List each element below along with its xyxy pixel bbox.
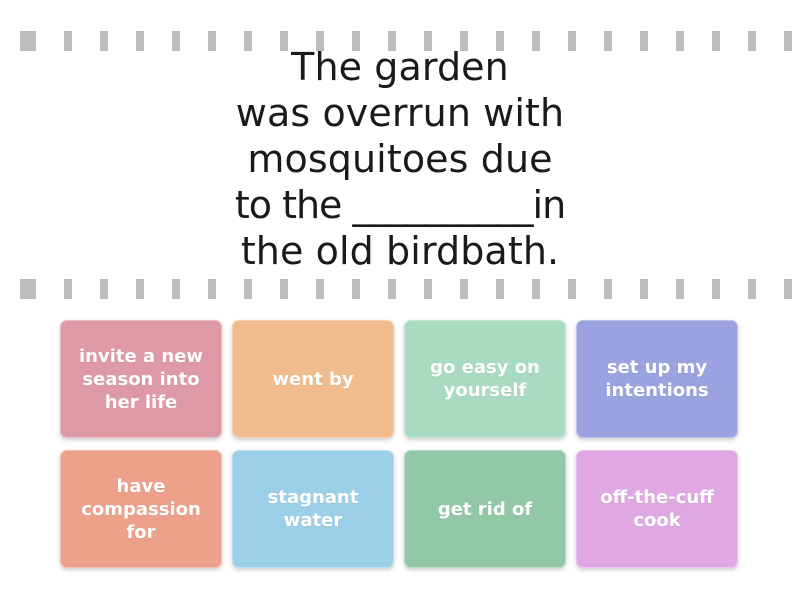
answer-tile-grid: invite a new season into her life went b… bbox=[60, 320, 738, 568]
question-line-3: mosquitoes due bbox=[247, 136, 552, 182]
answer-tile[interactable]: stagnant water bbox=[232, 450, 394, 568]
question-text: The garden was overrun with mosquitoes d… bbox=[40, 44, 760, 274]
question-panel: The garden was overrun with mosquitoes d… bbox=[0, 0, 800, 300]
dashed-divider-bottom bbox=[0, 279, 800, 299]
question-line-5: the old birdbath. bbox=[241, 228, 559, 274]
answer-tile-label: invite a new season into her life bbox=[68, 345, 214, 414]
answer-tile-label: go easy on yourself bbox=[412, 356, 558, 402]
answer-tile-label: get rid of bbox=[438, 498, 532, 521]
answer-tile-label: have compassion for bbox=[68, 475, 214, 544]
activity-stage: The garden was overrun with mosquitoes d… bbox=[0, 0, 800, 600]
answer-tile[interactable]: went by bbox=[232, 320, 394, 438]
answer-tile[interactable]: get rid of bbox=[404, 450, 566, 568]
answer-tile[interactable]: off-the-cuff cook bbox=[576, 450, 738, 568]
answer-tile[interactable]: invite a new season into her life bbox=[60, 320, 222, 438]
answer-tile-label: went by bbox=[272, 368, 353, 391]
answer-tile-label: set up my intentions bbox=[584, 356, 730, 402]
answer-tile[interactable]: have compassion for bbox=[60, 450, 222, 568]
answer-tile-label: stagnant water bbox=[240, 486, 386, 532]
question-line-1: The garden bbox=[291, 44, 509, 90]
question-line-4-with-blank: to the __________in bbox=[235, 182, 565, 228]
answer-tile-label: off-the-cuff cook bbox=[584, 486, 730, 532]
answer-tile[interactable]: go easy on yourself bbox=[404, 320, 566, 438]
answer-tile[interactable]: set up my intentions bbox=[576, 320, 738, 438]
question-line-2: was overrun with bbox=[236, 90, 564, 136]
